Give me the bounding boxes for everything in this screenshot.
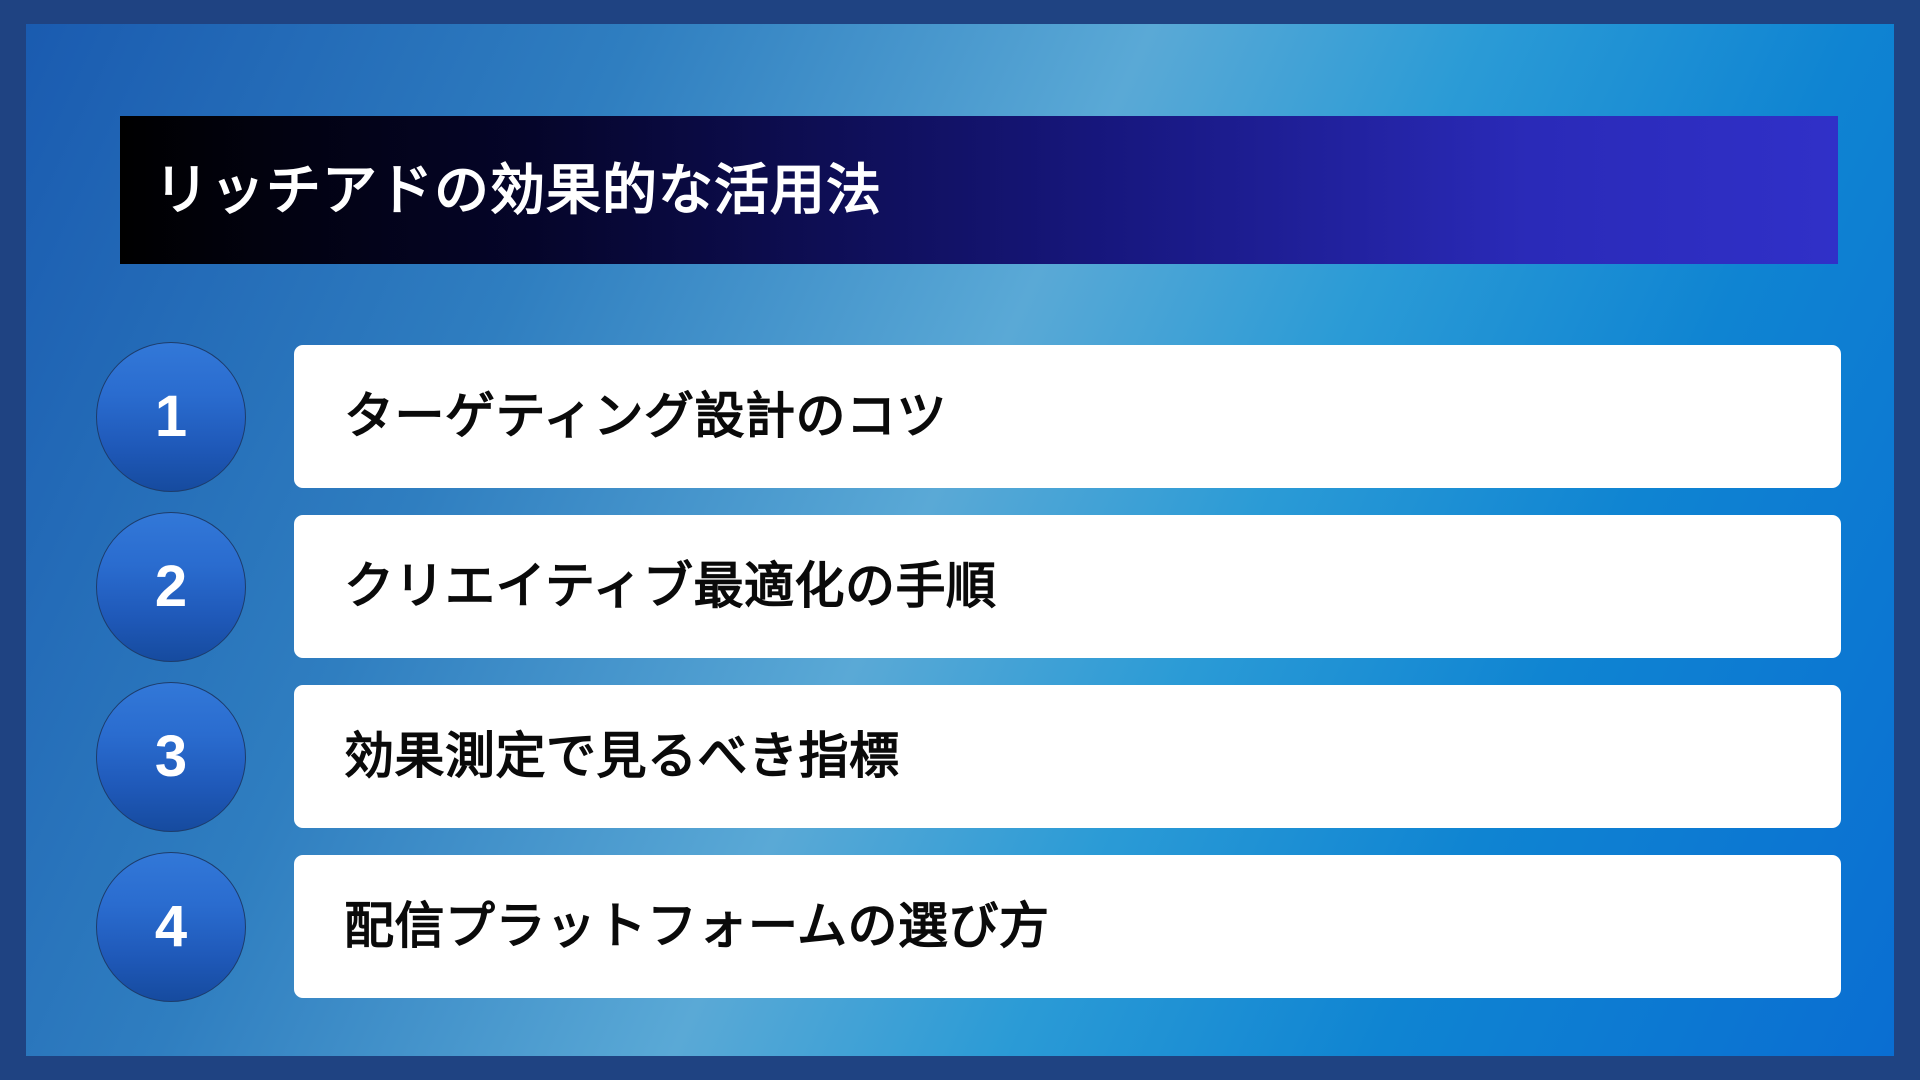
step-badge-1: 1 xyxy=(96,342,246,492)
step-card-2[interactable]: クリエイティブ最適化の手順 xyxy=(294,515,1841,658)
step-card-1[interactable]: ターゲティング設計のコツ xyxy=(294,345,1841,488)
list-item[interactable]: 3 効果測定で見るべき指標 xyxy=(96,682,1841,832)
step-label: クリエイティブ最適化の手順 xyxy=(344,558,997,616)
step-card-3[interactable]: 効果測定で見るべき指標 xyxy=(294,685,1841,828)
step-card-4[interactable]: 配信プラットフォームの選び方 xyxy=(294,855,1841,998)
list-item[interactable]: 2 クリエイティブ最適化の手順 xyxy=(96,512,1841,662)
list-item[interactable]: 1 ターゲティング設計のコツ xyxy=(96,342,1841,492)
step-number: 4 xyxy=(155,898,187,956)
step-number: 3 xyxy=(155,728,187,786)
slide-root: リッチアドの効果的な活用法 1 ターゲティング設計のコツ 2 クリエイティブ最適… xyxy=(0,0,1920,1080)
step-number: 1 xyxy=(155,388,187,446)
page-title: リッチアドの効果的な活用法 xyxy=(154,160,882,221)
step-badge-2: 2 xyxy=(96,512,246,662)
list-item[interactable]: 4 配信プラットフォームの選び方 xyxy=(96,852,1841,1002)
step-label: 効果測定で見るべき指標 xyxy=(344,728,900,786)
step-badge-3: 3 xyxy=(96,682,246,832)
slide-canvas: リッチアドの効果的な活用法 1 ターゲティング設計のコツ 2 クリエイティブ最適… xyxy=(26,24,1894,1056)
step-label: ターゲティング設計のコツ xyxy=(344,388,947,446)
step-badge-4: 4 xyxy=(96,852,246,1002)
title-banner: リッチアドの効果的な活用法 xyxy=(120,116,1838,264)
step-number: 2 xyxy=(155,558,187,616)
step-label: 配信プラットフォームの選び方 xyxy=(344,898,1050,956)
